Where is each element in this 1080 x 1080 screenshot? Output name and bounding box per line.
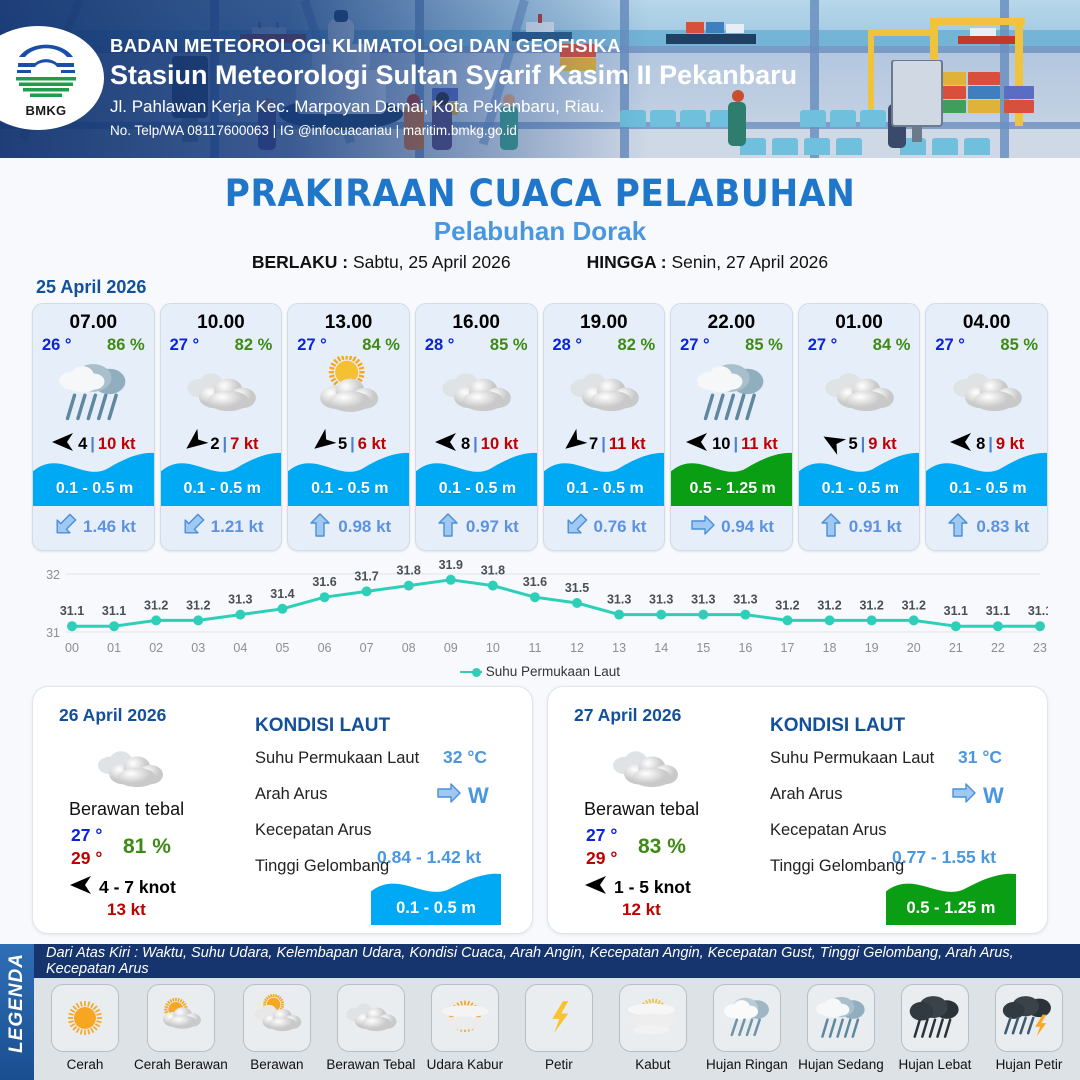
wave-height-label: Tinggi Gelombang: [255, 857, 389, 876]
wave-height: 0.1 - 0.5 m: [544, 480, 666, 498]
card-current-row: 0.98 kt: [288, 510, 410, 544]
card-temp-humidity: 27 ° 85 %: [671, 334, 792, 355]
hourly-card: 22.00 27 ° 85 % 10 | 11 kt 0.5 - 1.25 m …: [670, 303, 793, 551]
hourly-card: 19.00 28 ° 82 % 7 | 11 kt 0.1 - 0.5 m 0.: [543, 303, 666, 551]
daily-wind-row: 4 - 7 knot: [69, 875, 176, 900]
hingga-value: Senin, 27 April 2026: [672, 252, 829, 272]
svg-text:09: 09: [444, 641, 458, 655]
svg-text:31.2: 31.2: [144, 598, 168, 612]
card-temp-humidity: 26 ° 86 %: [33, 334, 154, 355]
daily-condition: Berawan tebal: [69, 799, 184, 820]
hourly-card: 10.00 27 ° 82 % 2 | 7 kt 0.1 - 0.5 m 1.2: [160, 303, 283, 551]
legend-item-label: Hujan Petir: [996, 1057, 1063, 1072]
legend-lightning-icon: [525, 984, 593, 1052]
card-temperature: 28 °: [425, 336, 455, 355]
card-time: 04.00: [926, 312, 1047, 334]
seat-icon: [804, 138, 830, 155]
weather-cloudy-thick-icon: [799, 356, 920, 430]
svg-text:23: 23: [1033, 641, 1047, 655]
station-contact: No. Telp/WA 08117600063 | IG @infocuacar…: [110, 122, 797, 140]
daily-temp-max: 29 °: [586, 848, 617, 869]
daily-date: 26 April 2026: [59, 705, 166, 726]
hourly-card: 04.00 27 ° 85 % 8 | 9 kt 0.1 - 0.5 m 0.8: [925, 303, 1048, 551]
hourly-forecast-cards: 07.00 26 ° 86 % 4 | 10 kt 0.1 - 0.5 m 1.…: [32, 303, 1048, 551]
daily-date: 27 April 2026: [574, 705, 681, 726]
legend-sun-cloud-icon: [147, 984, 215, 1052]
svg-text:31.8: 31.8: [481, 564, 505, 578]
legend-item-label: Hujan Ringan: [706, 1057, 788, 1072]
svg-text:08: 08: [402, 641, 416, 655]
daily-gust: 13 kt: [107, 900, 146, 920]
svg-text:31.7: 31.7: [354, 569, 378, 583]
legend-rain-moderate-icon: [807, 984, 875, 1052]
current-direction-value: W: [983, 783, 1004, 809]
bmkg-emblem-icon: [11, 39, 81, 103]
card-humidity: 85 %: [490, 336, 528, 355]
daily-wave-height: 0.1 - 0.5 m: [371, 899, 501, 918]
svg-text:11: 11: [528, 641, 541, 655]
legend-item: Hujan Ringan: [702, 984, 792, 1072]
card-time: 01.00: [799, 312, 920, 334]
current-direction-arrow-icon: [436, 513, 460, 542]
legend-item: Cerah: [40, 984, 130, 1072]
svg-text:17: 17: [781, 641, 795, 655]
legend-item: Hujan Petir: [984, 984, 1074, 1072]
sea-condition-title: KONDISI LAUT: [770, 715, 905, 737]
svg-text:31.3: 31.3: [607, 593, 631, 607]
seat-icon: [800, 110, 826, 127]
wave-height: 0.1 - 0.5 m: [799, 480, 921, 498]
svg-text:31.3: 31.3: [649, 593, 673, 607]
svg-text:15: 15: [696, 641, 710, 655]
svg-text:02: 02: [149, 641, 163, 655]
svg-text:31.8: 31.8: [397, 564, 421, 578]
weather-cloudy-thick-icon: [416, 356, 537, 430]
card-current-row: 1.21 kt: [161, 510, 283, 544]
svg-text:21: 21: [949, 641, 963, 655]
current-speed: 0.91 kt: [849, 517, 902, 537]
svg-text:14: 14: [654, 641, 668, 655]
container-icon: [968, 72, 1000, 85]
svg-text:31.2: 31.2: [186, 598, 210, 612]
svg-text:31.1: 31.1: [60, 604, 84, 618]
legend-rain-light-icon: [713, 984, 781, 1052]
hourly-card: 07.00 26 ° 86 % 4 | 10 kt 0.1 - 0.5 m 1.…: [32, 303, 155, 551]
chart-legend-label: Suhu Permukaan Laut: [486, 664, 620, 679]
sst-label: Suhu Permukaan Laut: [770, 749, 934, 768]
current-speed-value: 0.84 - 1.42 kt: [377, 847, 481, 868]
card-temp-humidity: 27 ° 85 %: [926, 334, 1047, 355]
legend-sun-icon: [51, 984, 119, 1052]
svg-text:13: 13: [612, 641, 626, 655]
daily-wind: 1 - 5 knot: [614, 877, 691, 898]
svg-text:31.1: 31.1: [1028, 604, 1048, 618]
daily-temp-max: 29 °: [71, 848, 102, 869]
sst-value: 31 °C: [958, 747, 1002, 768]
card-time: 16.00: [416, 312, 537, 334]
daily-forecast-panels: 26 April 2026 Berawan tebal 27 ° 29 ° 81…: [32, 686, 1048, 934]
svg-text:31.3: 31.3: [733, 593, 757, 607]
svg-text:00: 00: [65, 641, 79, 655]
card-humidity: 86 %: [107, 336, 145, 355]
svg-text:19: 19: [865, 641, 879, 655]
svg-text:31.3: 31.3: [691, 593, 715, 607]
berlaku-label: BERLAKU :: [252, 252, 348, 272]
card-humidity: 82 %: [618, 336, 656, 355]
current-direction-value-row: W: [437, 781, 489, 810]
card-current-row: 0.97 kt: [416, 510, 538, 544]
legend-note: Dari Atas Kiri : Waktu, Suhu Udara, Kele…: [34, 944, 1080, 978]
weather-cloudy-thick-icon: [161, 356, 282, 430]
legend-fog-icon: [619, 984, 687, 1052]
page-subtitle: Pelabuhan Dorak: [0, 216, 1080, 247]
card-temp-humidity: 28 ° 85 %: [416, 334, 537, 355]
current-direction-arrow-icon: [437, 781, 461, 810]
daily-gust: 12 kt: [622, 900, 661, 920]
current-direction-arrow-icon: [181, 513, 205, 542]
svg-text:31.2: 31.2: [902, 598, 926, 612]
current-direction-arrow-icon: [308, 513, 332, 542]
legend-cloud-sun-partly-icon: [243, 984, 311, 1052]
hingga-group: HINGGA : Senin, 27 April 2026: [587, 252, 829, 273]
wind-direction-arrow-icon: [584, 875, 608, 900]
seat-icon: [836, 138, 862, 155]
current-speed: 1.46 kt: [83, 517, 136, 537]
hourly-card: 13.00 27 ° 84 % 5 | 6 kt 0.1 - 0.5 m 0.9…: [287, 303, 410, 551]
svg-text:31.2: 31.2: [817, 598, 841, 612]
page-title: PRAKIRAAN CUACA PELABUHAN: [38, 172, 1042, 215]
card-humidity: 85 %: [1000, 336, 1038, 355]
weather-rain-moderate-icon: [33, 356, 154, 430]
current-speed: 0.83 kt: [976, 517, 1029, 537]
daily-temp-min: 27 °: [586, 825, 617, 846]
svg-text:22: 22: [991, 641, 1005, 655]
current-speed: 0.97 kt: [466, 517, 519, 537]
current-speed: 1.21 kt: [211, 517, 264, 537]
svg-text:01: 01: [107, 641, 121, 655]
legend-item-label: Petir: [545, 1057, 573, 1072]
container-icon: [1004, 100, 1034, 113]
legend-item: Udara Kabur: [420, 984, 510, 1072]
card-humidity: 85 %: [745, 336, 783, 355]
daily-temp-min: 27 °: [71, 825, 102, 846]
svg-text:07: 07: [360, 641, 374, 655]
current-speed: 0.98 kt: [338, 517, 391, 537]
sst-chart: 313231.10031.10131.20231.20331.30431.405…: [32, 556, 1048, 676]
current-speed-label: Kecepatan Arus: [770, 821, 887, 840]
legend-bar: LEGENDA Dari Atas Kiri : Waktu, Suhu Uda…: [0, 944, 1080, 1080]
legend-items: Cerah Cerah Berawan Berawan Berawan Teba…: [34, 984, 1080, 1072]
chart-legend: Suhu Permukaan Laut: [0, 664, 1080, 679]
weather-cloudy-thick-icon: [544, 356, 665, 430]
svg-text:31.9: 31.9: [439, 558, 463, 572]
svg-text:31.2: 31.2: [775, 598, 799, 612]
legend-item-label: Cerah: [67, 1057, 104, 1072]
card-current-row: 0.94 kt: [671, 510, 793, 544]
container-icon: [1004, 86, 1034, 99]
window-mullion: [810, 0, 819, 158]
daily-condition: Berawan tebal: [584, 799, 699, 820]
svg-text:31.2: 31.2: [859, 598, 883, 612]
station-address: Jl. Pahlawan Kerja Kec. Marpoyan Damai, …: [110, 96, 797, 119]
legend-side-tab: LEGENDA: [0, 944, 34, 1080]
card-time: 22.00: [671, 312, 792, 334]
card-temp-humidity: 27 ° 82 %: [161, 334, 282, 355]
seat-icon: [830, 110, 856, 127]
legend-item-label: Berawan: [250, 1057, 303, 1072]
wave-height: 0.1 - 0.5 m: [33, 480, 155, 498]
wind-direction-arrow-icon: [69, 875, 93, 900]
svg-text:03: 03: [191, 641, 205, 655]
card-temperature: 27 °: [297, 336, 327, 355]
hourly-date-label: 25 April 2026: [36, 277, 146, 298]
daily-humidity: 83 %: [638, 835, 686, 859]
legend-item-label: Cerah Berawan: [134, 1057, 228, 1072]
svg-text:31.6: 31.6: [523, 575, 547, 589]
bmkg-logo-text: BMKG: [11, 103, 81, 118]
daily-panel: 27 April 2026 Berawan tebal 27 ° 29 ° 83…: [547, 686, 1048, 934]
legend-item: Hujan Lebat: [890, 984, 980, 1072]
svg-text:06: 06: [318, 641, 332, 655]
station-name: Stasiun Meteorologi Sultan Syarif Kasim …: [110, 58, 797, 93]
svg-text:20: 20: [907, 641, 921, 655]
current-speed: 0.94 kt: [721, 517, 774, 537]
current-direction-value-row: W: [952, 781, 1004, 810]
svg-text:31.1: 31.1: [986, 604, 1010, 618]
card-current-row: 0.91 kt: [799, 510, 921, 544]
sst-label: Suhu Permukaan Laut: [255, 749, 419, 768]
current-speed-label: Kecepatan Arus: [255, 821, 372, 840]
legend-rain-heavy-icon: [901, 984, 969, 1052]
card-temperature: 27 °: [808, 336, 838, 355]
current-direction-arrow-icon: [819, 513, 843, 542]
card-time: 10.00: [161, 312, 282, 334]
display-screen-icon: [886, 60, 948, 142]
card-humidity: 84 %: [362, 336, 400, 355]
validity-row: BERLAKU : Sabtu, 25 April 2026 HINGGA : …: [0, 252, 1080, 273]
wave-height: 0.1 - 0.5 m: [926, 480, 1048, 498]
legend-haze-icon: [431, 984, 499, 1052]
current-direction-value: W: [468, 783, 489, 809]
wave-height: 0.1 - 0.5 m: [288, 480, 410, 498]
svg-text:31.5: 31.5: [565, 581, 589, 595]
weather-rain-moderate-icon: [671, 356, 792, 430]
bmkg-logo-mark: BMKG: [11, 39, 81, 117]
agency-name: BADAN METEOROLOGI KLIMATOLOGI DAN GEOFIS…: [110, 34, 797, 57]
weather-partly-cloudy-icon: [288, 356, 409, 430]
header-text-block: BADAN METEOROLOGI KLIMATOLOGI DAN GEOFIS…: [110, 34, 797, 140]
card-current-row: 0.83 kt: [926, 510, 1048, 544]
page-header: BMKG BADAN METEOROLOGI KLIMATOLOGI DAN G…: [0, 0, 1080, 158]
legend-item: Kabut: [608, 984, 698, 1072]
legend-item-label: Kabut: [635, 1057, 670, 1072]
card-time: 19.00: [544, 312, 665, 334]
hourly-card: 01.00 27 ° 84 % 5 | 9 kt 0.1 - 0.5 m 0.9: [798, 303, 921, 551]
svg-text:10: 10: [486, 641, 500, 655]
card-time: 07.00: [33, 312, 154, 334]
legend-item-label: Hujan Sedang: [798, 1057, 884, 1072]
card-time: 13.00: [288, 312, 409, 334]
sst-value: 32 °C: [443, 747, 487, 768]
legend-item: Berawan: [232, 984, 322, 1072]
legend-item: Petir: [514, 984, 604, 1072]
crane-icon: [868, 30, 938, 36]
berlaku-value: Sabtu, 25 April 2026: [353, 252, 511, 272]
daily-wind: 4 - 7 knot: [99, 877, 176, 898]
container-icon: [968, 86, 1000, 99]
svg-text:18: 18: [823, 641, 837, 655]
card-humidity: 82 %: [235, 336, 273, 355]
wave-height: 0.1 - 0.5 m: [161, 480, 283, 498]
legend-clouds-thick-icon: [337, 984, 405, 1052]
card-temperature: 27 °: [935, 336, 965, 355]
svg-text:31.1: 31.1: [944, 604, 968, 618]
legend-side-title: LEGENDA: [6, 952, 28, 1054]
current-direction-arrow-icon: [691, 513, 715, 542]
card-temperature: 28 °: [553, 336, 583, 355]
legend-line-icon: [460, 671, 482, 673]
seat-icon: [964, 138, 990, 155]
svg-text:04: 04: [233, 641, 247, 655]
legend-item-label: Hujan Lebat: [899, 1057, 972, 1072]
seat-icon: [860, 110, 886, 127]
wave-height: 0.1 - 0.5 m: [416, 480, 538, 498]
svg-text:31.1: 31.1: [102, 604, 126, 618]
container-icon: [968, 100, 1000, 113]
sea-condition-title: KONDISI LAUT: [255, 715, 390, 737]
legend-item: Hujan Sedang: [796, 984, 886, 1072]
current-direction-arrow-icon: [952, 781, 976, 810]
hingga-label: HINGGA :: [587, 252, 667, 272]
legend-item: Berawan Tebal: [326, 984, 416, 1072]
svg-text:31.4: 31.4: [270, 587, 294, 601]
current-direction-arrow-icon: [53, 513, 77, 542]
seat-icon: [772, 138, 798, 155]
svg-text:31.3: 31.3: [228, 593, 252, 607]
legend-item-label: Udara Kabur: [427, 1057, 504, 1072]
svg-text:31: 31: [46, 626, 60, 640]
card-temp-humidity: 28 ° 82 %: [544, 334, 665, 355]
card-temp-humidity: 27 ° 84 %: [288, 334, 409, 355]
current-direction-arrow-icon: [564, 513, 588, 542]
card-humidity: 84 %: [873, 336, 911, 355]
card-temperature: 27 °: [680, 336, 710, 355]
svg-text:05: 05: [275, 641, 289, 655]
current-direction-arrow-icon: [946, 513, 970, 542]
card-temperature: 26 °: [42, 336, 72, 355]
current-speed: 0.76 kt: [594, 517, 647, 537]
svg-text:16: 16: [738, 641, 752, 655]
legend-thunderstorm-icon: [995, 984, 1063, 1052]
svg-text:12: 12: [570, 641, 584, 655]
card-current-row: 0.76 kt: [544, 510, 666, 544]
current-direction-label: Arah Arus: [255, 785, 327, 804]
card-temp-humidity: 27 ° 84 %: [799, 334, 920, 355]
svg-text:32: 32: [46, 568, 60, 582]
hourly-card: 16.00 28 ° 85 % 8 | 10 kt 0.1 - 0.5 m 0.: [415, 303, 538, 551]
legend-item: Cerah Berawan: [134, 984, 228, 1072]
weather-cloudy-thick-icon: [926, 356, 1047, 430]
crane-icon: [930, 18, 1025, 25]
daily-wind-row: 1 - 5 knot: [584, 875, 691, 900]
berlaku-group: BERLAKU : Sabtu, 25 April 2026: [252, 252, 511, 273]
daily-panel: 26 April 2026 Berawan tebal 27 ° 29 ° 81…: [32, 686, 533, 934]
current-direction-label: Arah Arus: [770, 785, 842, 804]
daily-wave-height: 0.5 - 1.25 m: [886, 899, 1016, 918]
card-temperature: 27 °: [170, 336, 200, 355]
sst-chart-svg: 313231.10031.10131.20231.20331.30431.405…: [32, 556, 1048, 676]
card-current-row: 1.46 kt: [33, 510, 155, 544]
legend-item-label: Berawan Tebal: [326, 1057, 415, 1072]
wave-height-label: Tinggi Gelombang: [770, 857, 904, 876]
svg-text:31.6: 31.6: [312, 575, 336, 589]
current-speed-value: 0.77 - 1.55 kt: [892, 847, 996, 868]
daily-humidity: 81 %: [123, 835, 171, 859]
wave-height: 0.5 - 1.25 m: [671, 480, 793, 498]
